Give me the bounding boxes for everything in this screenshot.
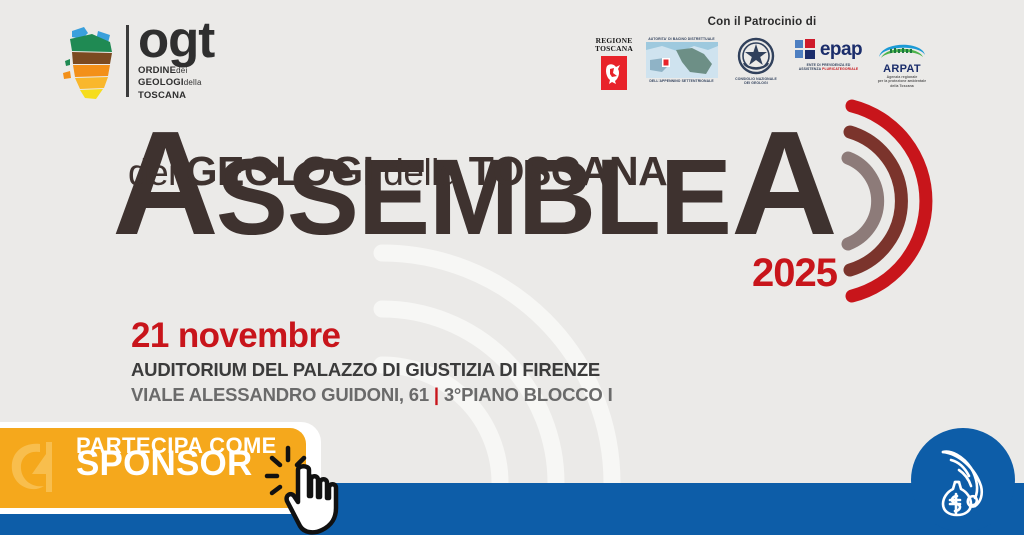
sponsor-money-badge [911, 428, 1015, 532]
ogt-line2-thin: della [184, 78, 202, 87]
patron-logo-arpat: ARPAT Agenzia regionale per la protezion… [872, 37, 932, 88]
ogt-wordmark: ogt [138, 20, 214, 60]
geologist-hammer-icon [6, 440, 70, 498]
ogt-line3-bold: TOSCANA [138, 90, 214, 103]
subline-thin-1: dei [128, 152, 186, 193]
autorita-bacino-bottom-label: DELL'APPENNINO SETTENTRIONALE [649, 79, 713, 83]
patron-logo-regione-toscana: REGIONE TOSCANA [592, 37, 636, 90]
regione-toscana-line2: TOSCANA [595, 45, 633, 53]
autorita-bacino-top-label: AUTORITA' DI BACINO DISTRETTUALE [648, 37, 715, 41]
patron-logo-autorita-bacino: AUTORITA' DI BACINO DISTRETTUALE DELL'AP… [644, 37, 720, 84]
subline-bold-toscana: TOSCANA [469, 148, 667, 194]
cta-text: PARTECIPA COME SPONSOR [76, 438, 277, 472]
ogt-logo: ogt ORDINEdei GEOLOGIdella TOSCANA [58, 20, 214, 102]
pegasus-shield-icon [601, 56, 627, 90]
italian-republic-emblem-icon [736, 37, 776, 77]
event-venue: AUDITORIUM DEL PALAZZO DI GIUSTIZIA DI F… [131, 360, 613, 381]
partecipa-come-sponsor-button[interactable]: PARTECIPA COME SPONSOR [0, 428, 306, 508]
event-address-part1: VIALE ALESSANDRO GUIDONI, 61 [131, 384, 434, 405]
money-bag-fishing-rod-icon [929, 442, 997, 518]
event-address-part2: 3°PIANO BLOCCO I [439, 384, 613, 405]
ogt-subtitle: ORDINEdei GEOLOGIdella TOSCANA [138, 65, 214, 103]
logo-divider [126, 25, 129, 97]
cng-line2: DEI GEOLOGI [744, 81, 768, 85]
patron-logo-row: REGIONE TOSCANA AUTORITA' DI BACINO DIST… [592, 37, 932, 90]
cta-line2: SPONSOR [76, 456, 277, 472]
subline-bold-geologi: GEOLOGI [186, 148, 374, 194]
headline-year: 2025 [752, 251, 837, 296]
italy-basin-map-icon [646, 42, 718, 78]
tuscany-map-icon [58, 21, 120, 101]
arpat-line3: della Toscana [890, 84, 913, 88]
ogt-line2-bold: GEOLOGI [138, 77, 184, 88]
subline-thin-2: della [374, 152, 469, 193]
event-date: 21 novembre [131, 318, 613, 353]
ogt-line1-thin: dei [176, 66, 187, 75]
banner-canvas: ogt ORDINEdei GEOLOGIdella TOSCANA Con i… [0, 0, 1024, 535]
event-address: VIALE ALESSANDRO GUIDONI, 61 | 3°PIANO B… [131, 385, 613, 406]
arpat-wordmark: ARPAT [883, 63, 921, 75]
patronage-block: Con il Patrocinio di REGIONE TOSCANA AUT… [592, 16, 932, 90]
arpat-swoosh-icon [876, 37, 928, 63]
ogt-line1-bold: ORDINE [138, 65, 176, 76]
epap-squares-icon [795, 39, 817, 61]
event-details: 21 novembre AUDITORIUM DEL PALAZZO DI GI… [131, 318, 613, 405]
patron-logo-epap: epap ENTE DI PREVIDENZA ED ASSISTENZA PL… [793, 37, 865, 72]
headline-subline: dei GEOLOGI della TOSCANA [128, 148, 667, 195]
patronage-title: Con il Patrocinio di [592, 16, 932, 28]
epap-wordmark: epap [820, 39, 862, 61]
epap-line2-accent: PLURICATEGORIALE [822, 67, 858, 71]
headline-final: A [731, 101, 835, 266]
epap-line2: ASSISTENZA PLURICATEGORIALE [799, 67, 859, 71]
patron-logo-consiglio-nazionale-geologi: CONSIGLIO NAZIONALE DEI GEOLOGI [727, 37, 785, 86]
pointing-hand-cursor-icon [264, 440, 356, 535]
